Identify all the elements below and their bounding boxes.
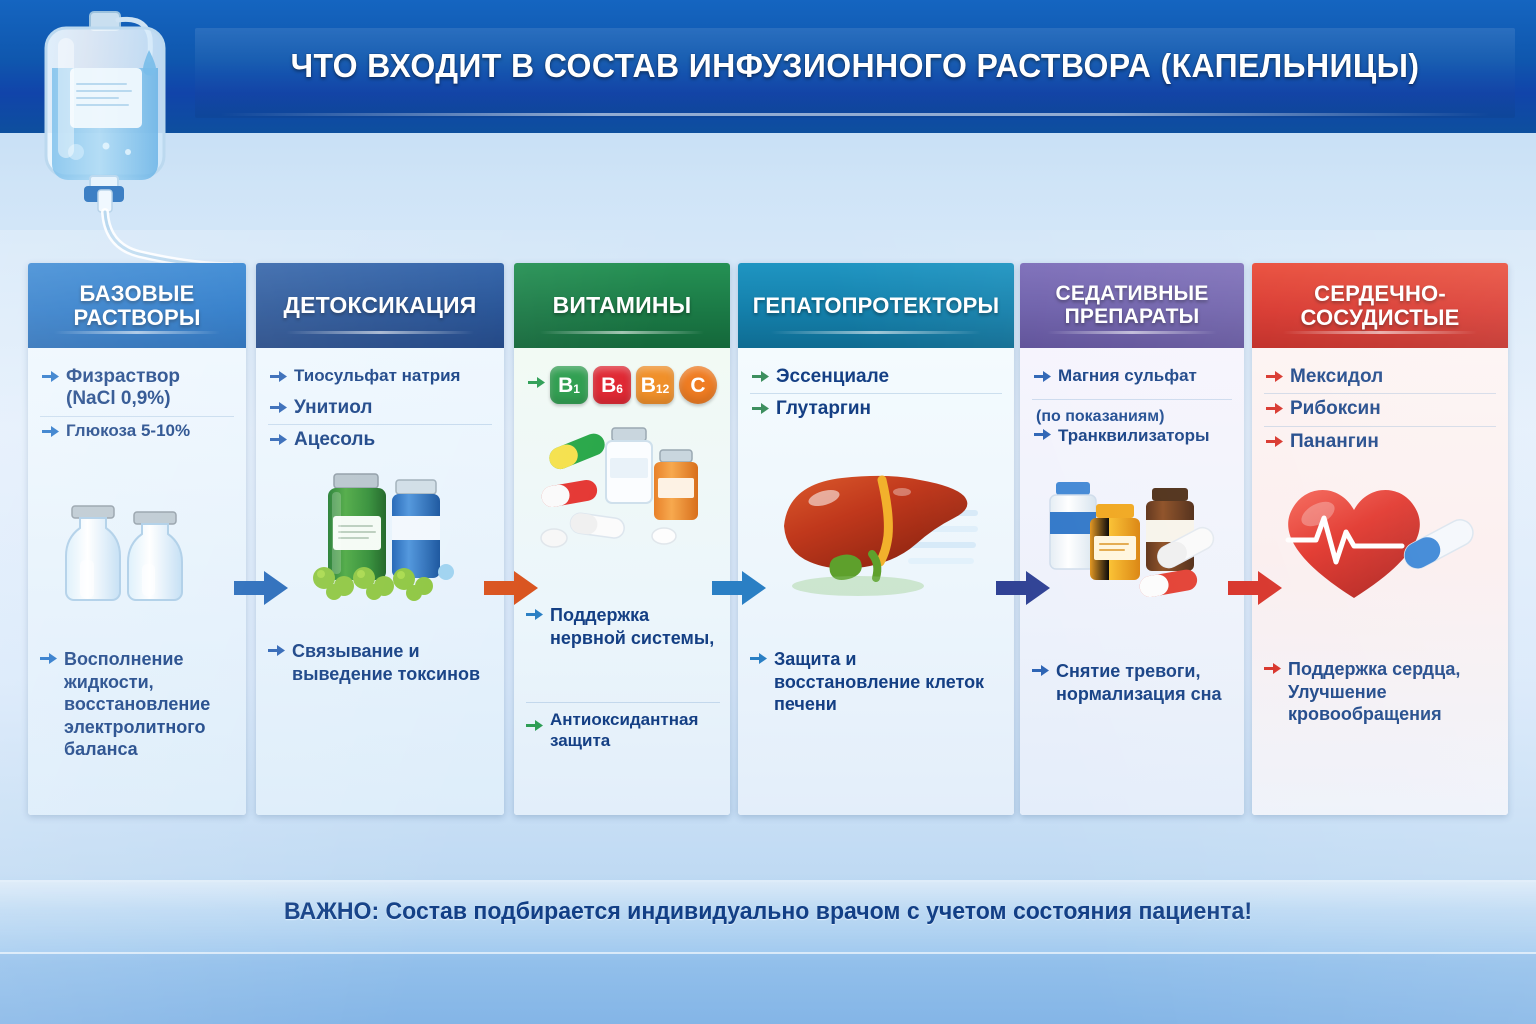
- list-item-label: Ацесоль: [294, 429, 375, 451]
- column-title: СЕРДЕЧНО-СОСУДИСТЫЕ: [1260, 282, 1500, 330]
- list-item-label: Унитиол: [294, 397, 372, 419]
- column-header-sedatives: СЕДАТИВНЫЕ ПРЕПАРАТЫ: [1020, 263, 1244, 348]
- column-benefit-base-solutions: Восполнение жидкости, восстановление эле…: [40, 648, 236, 761]
- page-title: ЧТО ВХОДИТ В СОСТАВ ИНФУЗИОННОГО РАСТВОР…: [215, 47, 1495, 85]
- connector-arrow-hepato-to-sedatives: [996, 565, 1062, 616]
- vitamin-badge-c: C: [679, 366, 717, 404]
- header-sheen: [771, 331, 981, 334]
- list-item-label: Физраствор (NaCl 0,9%): [66, 366, 232, 411]
- arrow-right-icon: [42, 425, 59, 443]
- header-sheen: [1283, 331, 1478, 334]
- connector-arrow-sedatives-to-cardio: [1228, 565, 1294, 616]
- list-item[interactable]: Тиосульфат натрия: [268, 362, 492, 393]
- column-hepatoprotectors[interactable]: ГЕПАТОПРОТЕКТОРЫ Эссенциале Глутаргин: [738, 263, 1014, 815]
- arrow-right-icon: [270, 433, 287, 451]
- column-title: ГЕПАТОПРОТЕКТОРЫ: [753, 294, 1000, 318]
- arrow-right-icon: [1266, 402, 1283, 420]
- list-item[interactable]: Унитиол: [268, 393, 492, 424]
- detox-bottles-charcoal-icon: [298, 466, 504, 606]
- footer-note: ВАЖНО: Состав подбирается индивидуально …: [31, 898, 1506, 926]
- column-header-base-solutions: БАЗОВЫЕ РАСТВОРЫ: [28, 263, 246, 348]
- list-item[interactable]: Рибоксин: [1264, 393, 1496, 425]
- vitamin-badge-sub: 1: [573, 383, 580, 395]
- header-sheen: [540, 331, 704, 334]
- vitamin-badge-label: B: [601, 375, 616, 396]
- benefit-label: Восполнение жидкости, восстановление эле…: [64, 648, 236, 761]
- arrow-right-icon: [1264, 662, 1281, 680]
- arrow-right-icon: [752, 370, 769, 388]
- list-item[interactable]: Мексидол: [1264, 362, 1496, 393]
- column-header-cardiovascular: СЕРДЕЧНО-СОСУДИСТЫЕ: [1252, 263, 1508, 348]
- column-header-hepatoprotectors: ГЕПАТОПРОТЕКТОРЫ: [738, 263, 1014, 348]
- list-item-label: Тиосульфат натрия: [294, 366, 460, 386]
- column-sedatives[interactable]: СЕДАТИВНЫЕ ПРЕПАРАТЫ Магния сульфат (по …: [1020, 263, 1244, 815]
- vitamin-badge-sub: 12: [656, 383, 669, 395]
- column-body-hepatoprotectors: Эссенциале Глутаргин: [738, 348, 1014, 815]
- vitamin-badge-row: B1 B6 B12 C: [526, 362, 718, 406]
- list-item-label: Мексидол: [1290, 366, 1383, 388]
- column-title: ДЕТОКСИКАЦИЯ: [284, 293, 477, 318]
- arrow-right-icon: [1032, 664, 1049, 682]
- list-item[interactable]: Магния сульфат: [1032, 362, 1232, 393]
- arrow-right-icon: [40, 652, 57, 670]
- column-header-vitamins: ВИТАМИНЫ: [514, 263, 730, 348]
- vitamin-badge-label: B: [641, 375, 656, 396]
- column-benefit-cardiovascular: Поддержка сердца, Улучшение кровообращен…: [1264, 658, 1498, 726]
- sedatives-indication-note: (по показаниям): [1032, 399, 1232, 426]
- header-underline: [220, 113, 1490, 116]
- arrow-right-icon: [1266, 435, 1283, 453]
- heart-ecg-capsule-icon: [1272, 476, 1508, 621]
- iv-drip-bag-icon: [18, 6, 233, 276]
- infographic-poster: ЧТО ВХОДИТ В СОСТАВ ИНФУЗИОННОГО РАСТВОР…: [0, 0, 1536, 1024]
- column-benefit-hepatoprotectors: Защита и восстановление клеток печени: [750, 648, 1004, 716]
- header-sheen: [286, 331, 474, 334]
- column-title: БАЗОВЫЕ РАСТВОРЫ: [36, 282, 238, 330]
- arrow-right-icon: [526, 719, 543, 737]
- benefit-label: Защита и восстановление клеток печени: [774, 648, 1004, 716]
- list-item[interactable]: Физраствор (NaCl 0,9%): [40, 362, 234, 416]
- connector-arrow-detox-to-vitamins: [484, 565, 550, 616]
- column-header-detox: ДЕТОКСИКАЦИЯ: [256, 263, 504, 348]
- list-item-label: Глюкоза 5-10%: [66, 421, 190, 441]
- column-benefit-detox: Связывание и выведение токсинов: [268, 640, 494, 685]
- column-benefit-vitamins-nerve: Поддержка нервной системы,: [526, 604, 720, 649]
- vitamin-badge-sub: 6: [616, 383, 623, 395]
- benefit-label: Антиоксидантная защита: [550, 709, 720, 752]
- column-base-solutions[interactable]: БАЗОВЫЕ РАСТВОРЫ Физраствор (NaCl 0,9%) …: [28, 263, 246, 815]
- capsules-pills-bottle-icon: [536, 414, 730, 569]
- list-item[interactable]: Панангин: [1264, 426, 1496, 458]
- list-item[interactable]: Эссенциале: [750, 362, 1002, 393]
- arrow-right-icon: [528, 376, 545, 394]
- column-benefit-sedatives: Снятие тревоги, нормализация сна: [1032, 660, 1234, 705]
- connector-arrow-base-to-detox: [234, 565, 300, 616]
- list-item[interactable]: Глутаргин: [750, 393, 1002, 425]
- connector-arrow-vitamins-to-hepato: [712, 565, 778, 616]
- arrow-right-icon: [752, 402, 769, 420]
- list-item-label: Рибоксин: [1290, 398, 1381, 420]
- list-item[interactable]: Глюкоза 5-10%: [40, 416, 234, 448]
- benefit-label: Снятие тревоги, нормализация сна: [1056, 660, 1234, 705]
- benefit-label: Поддержка сердца, Улучшение кровообращен…: [1288, 658, 1498, 726]
- column-body-base-solutions: Физраствор (NaCl 0,9%) Глюкоза 5-10%: [28, 348, 246, 815]
- arrow-right-icon: [1266, 370, 1283, 388]
- vitamin-badge-label: C: [690, 375, 705, 396]
- arrow-right-icon: [270, 370, 287, 388]
- benefit-label: Связывание и выведение токсинов: [292, 640, 494, 685]
- column-detox[interactable]: ДЕТОКСИКАЦИЯ Тиосульфат натрия Унитиол: [256, 263, 504, 815]
- category-columns: БАЗОВЫЕ РАСТВОРЫ Физраствор (NaCl 0,9%) …: [0, 263, 1536, 823]
- vitamin-badge-label: B: [558, 375, 573, 396]
- column-vitamins[interactable]: ВИТАМИНЫ B1 B6 B12: [514, 263, 730, 815]
- column-cardiovascular[interactable]: СЕРДЕЧНО-СОСУДИСТЫЕ Мексидол Рибоксин: [1252, 263, 1508, 815]
- arrow-right-icon: [268, 644, 285, 662]
- list-item-label: Транквилизаторы: [1058, 426, 1210, 446]
- arrow-right-icon: [270, 401, 287, 419]
- list-item-label: Эссенциале: [776, 366, 889, 388]
- column-benefit-vitamins-antioxidant: Антиоксидантная защита: [526, 702, 720, 752]
- list-item[interactable]: Транквилизаторы: [1032, 426, 1232, 451]
- list-item-label: Панангин: [1290, 431, 1379, 453]
- infusion-bottles-icon: [58, 490, 246, 615]
- benefit-label: Поддержка нервной системы,: [550, 604, 720, 649]
- arrow-right-icon: [42, 370, 59, 388]
- arrow-right-icon: [750, 652, 767, 670]
- list-item-label: Глутаргин: [776, 398, 871, 420]
- liver-icon: [762, 454, 1014, 609]
- arrow-right-icon: [1034, 370, 1051, 388]
- list-item[interactable]: Ацесоль: [268, 424, 492, 456]
- header-sheen: [54, 331, 220, 334]
- pill-bottles-capsule-icon: [1032, 474, 1244, 615]
- vitamin-badge-b1: B1: [550, 366, 588, 404]
- vitamin-badge-b12: B12: [636, 366, 674, 404]
- arrow-right-icon: [1034, 428, 1051, 446]
- header-sheen: [1047, 331, 1217, 334]
- vitamin-badge-b6: B6: [593, 366, 631, 404]
- list-item-label: Магния сульфат: [1058, 366, 1197, 386]
- column-title: ВИТАМИНЫ: [553, 293, 692, 318]
- column-title: СЕДАТИВНЫЕ ПРЕПАРАТЫ: [1028, 283, 1236, 328]
